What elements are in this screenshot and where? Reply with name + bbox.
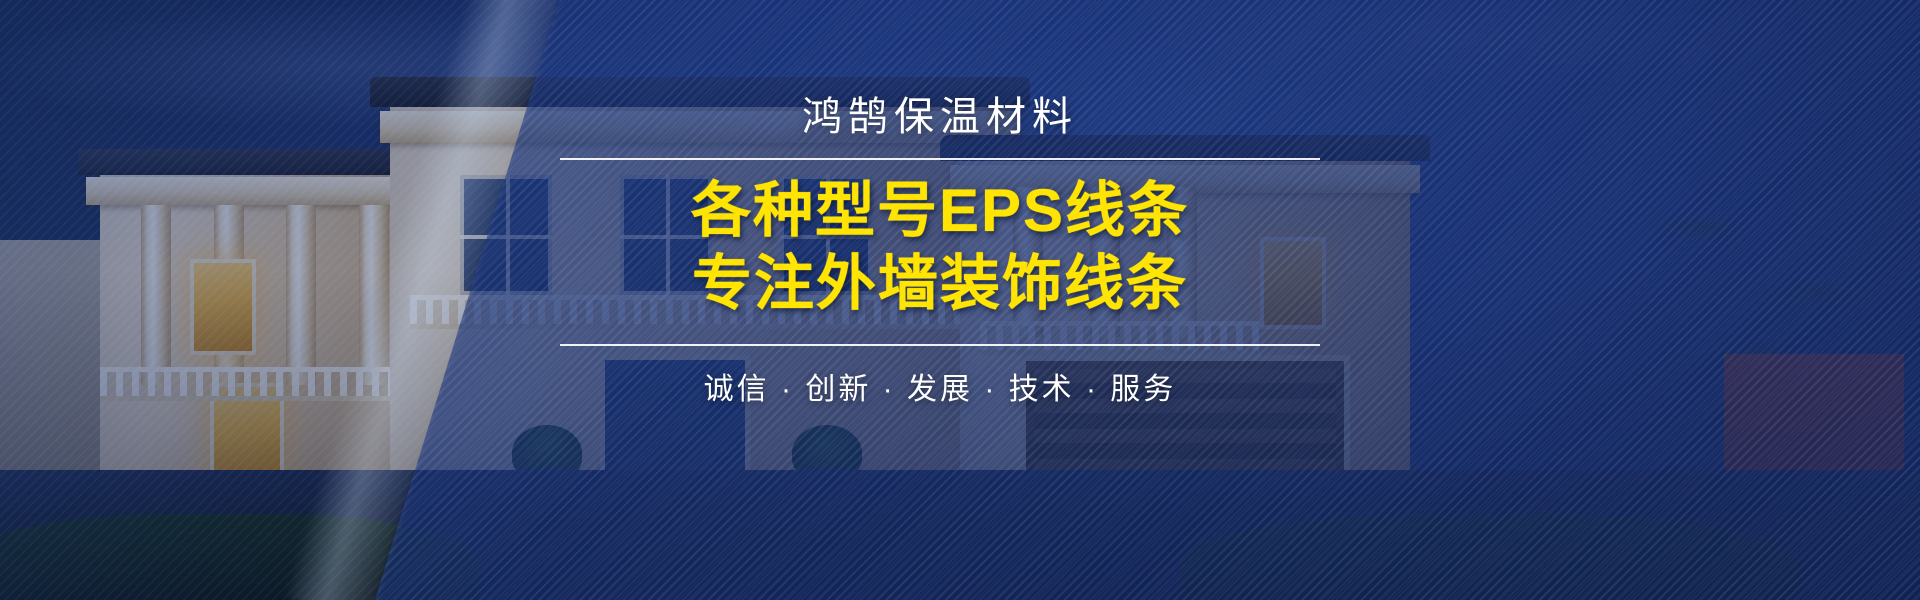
headline-block: 各种型号EPS线条 专注外墙装饰线条 <box>560 174 1320 320</box>
divider-bottom <box>560 344 1320 346</box>
tagline: 诚信 · 创新 · 发展 · 技术 · 服务 <box>560 364 1320 408</box>
headline-line-2: 专注外墙装饰线条 <box>560 247 1320 320</box>
headline-line-1: 各种型号EPS线条 <box>560 174 1320 247</box>
promo-banner: 鸿鹄保温材料 各种型号EPS线条 专注外墙装饰线条 诚信 · 创新 · 发展 ·… <box>0 0 1920 600</box>
brand-name: 鸿鹄保温材料 <box>560 92 1320 142</box>
divider-top <box>560 158 1320 160</box>
tagline-block: 诚信 · 创新 · 发展 · 技术 · 服务 <box>560 344 1320 408</box>
banner-content: 鸿鹄保温材料 各种型号EPS线条 专注外墙装饰线条 诚信 · 创新 · 发展 ·… <box>560 92 1320 408</box>
